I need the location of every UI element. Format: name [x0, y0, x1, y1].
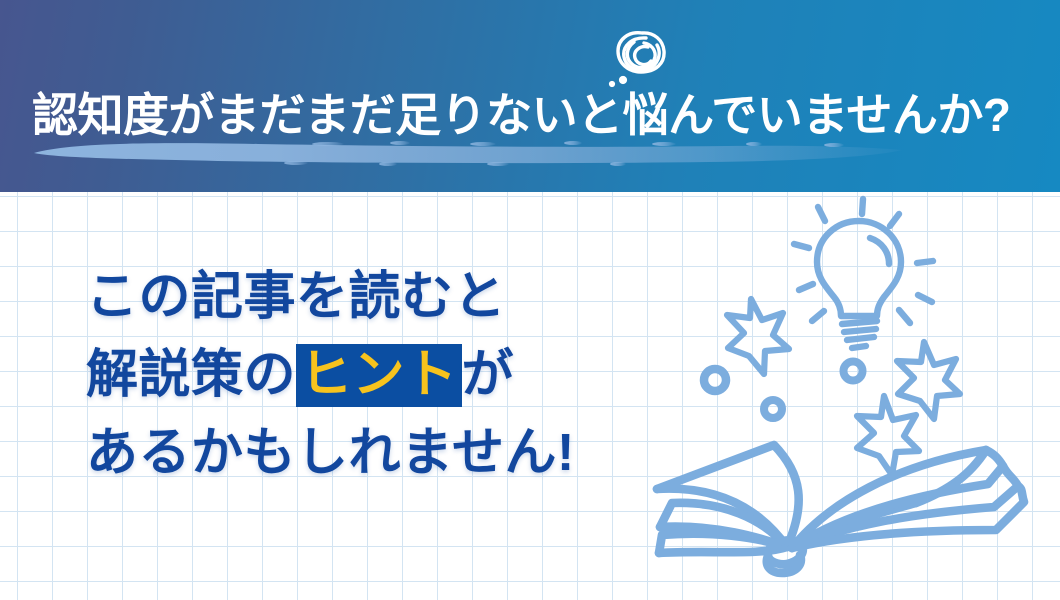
headline-block: この記事を読むと 解説策のヒントが あるかもしれません! — [86, 258, 575, 492]
promo-banner: 認知度がまだまだ足りないと悩んでいませんか? この記事を読むと 解説策のヒントが… — [0, 0, 1060, 600]
star-icon — [857, 396, 919, 475]
thought-scribble-icon — [604, 28, 674, 90]
headline-line-2: 解説策のヒントが — [86, 336, 575, 414]
open-book-with-lightbulb-illustration — [646, 190, 1060, 590]
open-book-icon — [657, 445, 1024, 573]
brush-underline-icon — [28, 140, 908, 166]
star-icon — [897, 342, 960, 419]
headline-line-2-suffix: が — [462, 346, 515, 404]
headline-highlight: ヒント — [296, 344, 462, 407]
header-band: 認知度がまだまだ足りないと悩んでいませんか? — [0, 0, 1060, 192]
headline-line-1: この記事を読むと — [86, 258, 575, 336]
headline-line-2-prefix: 解説策の — [86, 346, 296, 404]
lightbulb-icon — [794, 199, 933, 348]
circle-dot-icon — [704, 369, 726, 391]
circle-dot-icon — [764, 400, 782, 418]
header-title: 認知度がまだまだ足りないと悩んでいませんか? — [32, 92, 1011, 138]
headline-line-3: あるかもしれません! — [86, 414, 575, 492]
star-icon — [727, 299, 789, 374]
circle-dot-icon — [844, 362, 863, 381]
